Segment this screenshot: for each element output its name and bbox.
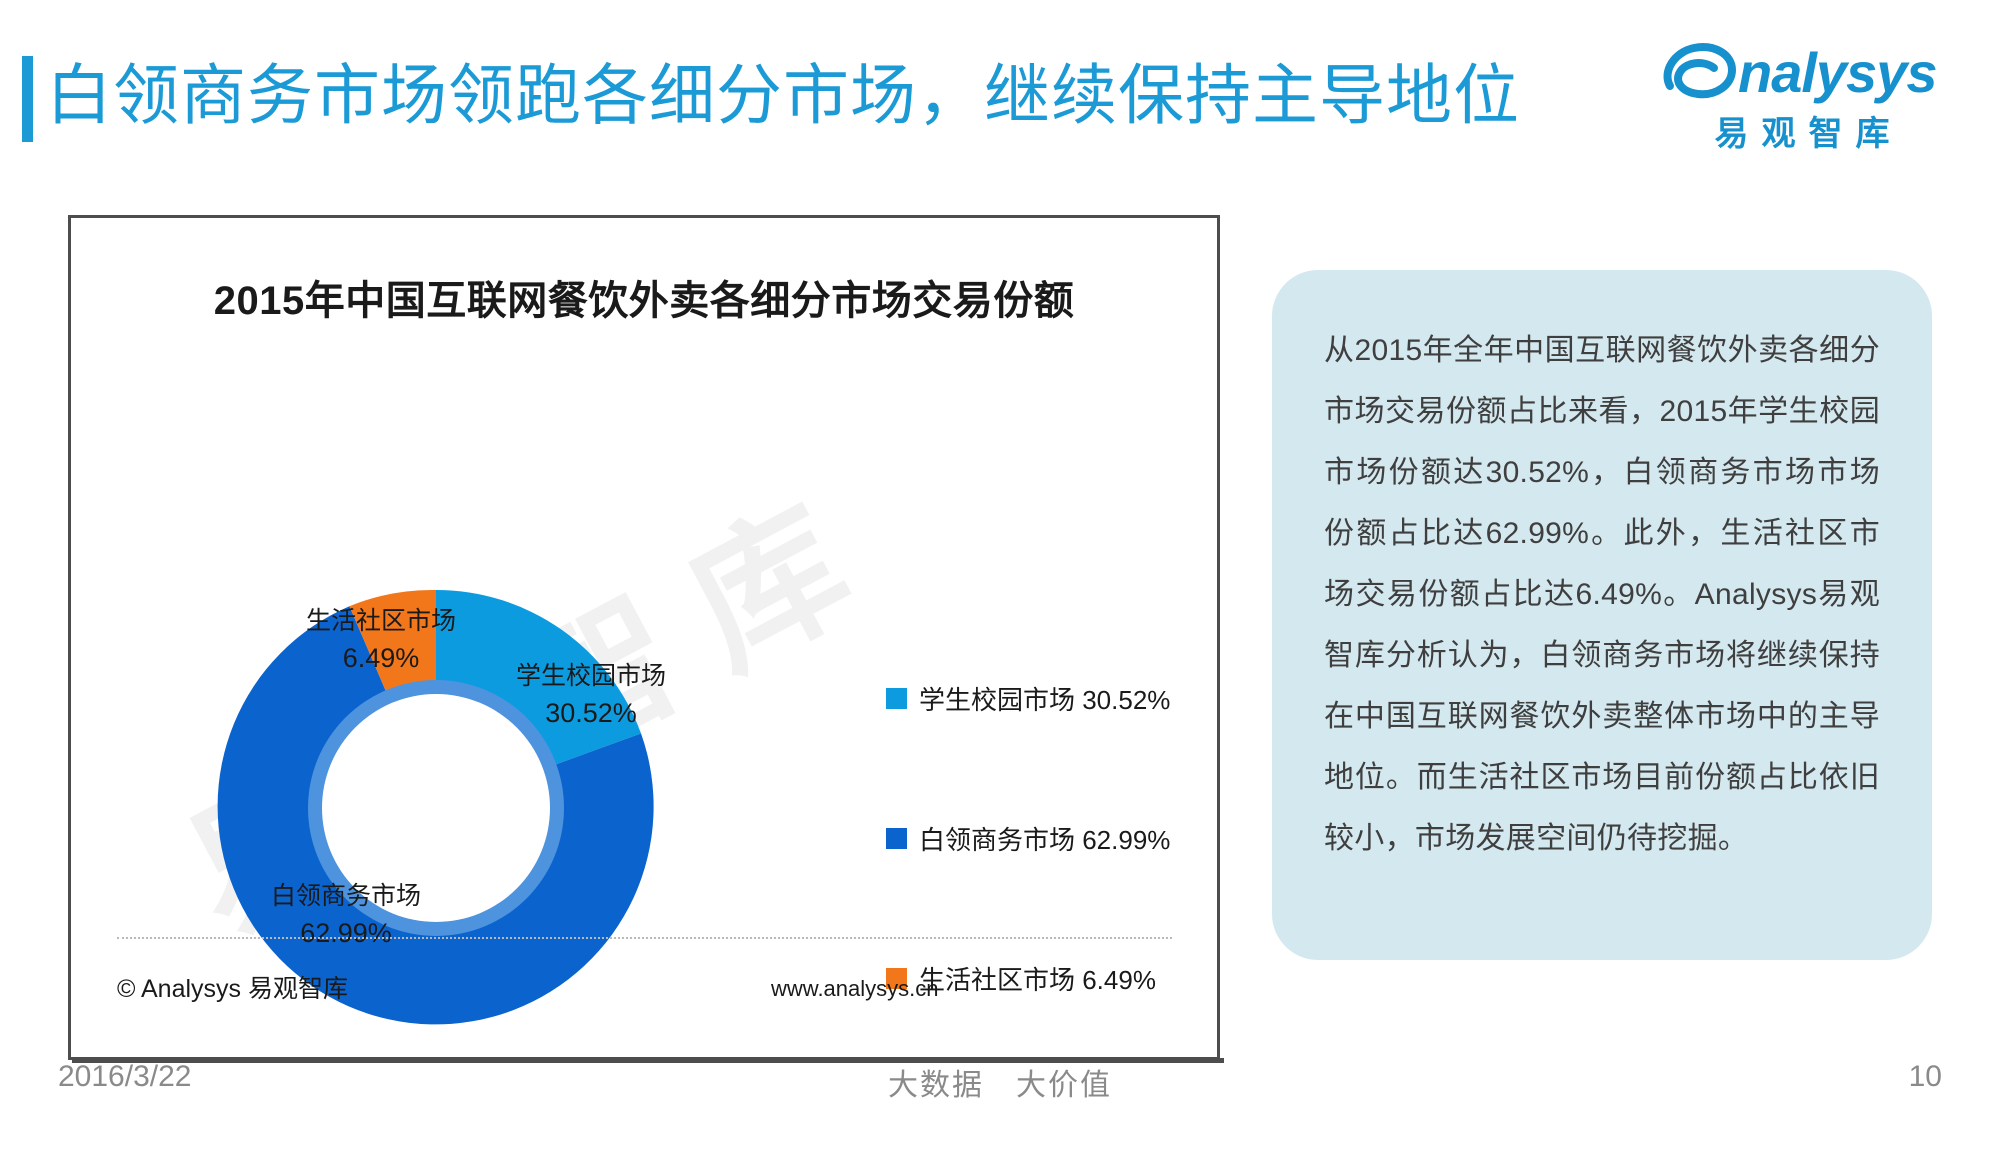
- donut-callout-community: 生活社区市场 6.49%: [266, 603, 496, 677]
- legend-swatch-student-icon: [886, 688, 907, 709]
- legend-swatch-whitecollar-icon: [886, 828, 907, 849]
- svg-text:nalysys: nalysys: [1738, 41, 1937, 104]
- donut-callout-community-percent: 6.49%: [266, 640, 496, 677]
- donut-callout-student-name: 学生校园市场: [516, 662, 666, 690]
- analysys-wordmark-icon: nalysys: [1652, 30, 1952, 108]
- page-footer: 2016/3/22 大数据 大价值 10: [0, 1040, 2000, 1125]
- card-divider: [117, 937, 1172, 939]
- donut-callout-student: 学生校园市场 30.52%: [476, 658, 706, 732]
- legend-item-whitecollar: 白领商务市场 62.99%: [886, 768, 1206, 908]
- donut-callout-whitecollar-name: 白领商务市场: [271, 882, 421, 910]
- footer-slogan: 大数据 大价值: [0, 1060, 2000, 1104]
- donut-callout-whitecollar-percent: 62.99%: [221, 915, 471, 952]
- page-header: 白领商务市场领跑各细分市场，继续保持主导地位 nalysys 易观智库: [0, 0, 2000, 180]
- title-accent-bar: [22, 56, 33, 142]
- legend-label-community: 生活社区市场 6.49%: [919, 960, 1156, 997]
- donut-callout-community-name: 生活社区市场: [306, 607, 456, 635]
- donut-callout-whitecollar: 白领商务市场 62.99%: [221, 878, 471, 952]
- legend-item-student: 学生校园市场 30.52%: [886, 628, 1206, 768]
- legend-label-student: 学生校园市场 30.52%: [919, 680, 1170, 717]
- analysys-logo: nalysys 易观智库: [1652, 30, 1952, 152]
- insight-panel-text: 从2015年全年中国互联网餐饮外卖各细分市场交易份额占比来看，2015年学生校园…: [1324, 320, 1880, 869]
- card-copyright: © Analysys 易观智库: [117, 969, 348, 1005]
- donut-callout-student-percent: 30.52%: [476, 695, 706, 732]
- chart-title: 2015年中国互联网餐饮外卖各细分市场交易份额: [71, 268, 1217, 326]
- legend-label-whitecollar: 白领商务市场 62.99%: [919, 820, 1170, 857]
- page-title: 白领商务市场领跑各细分市场，继续保持主导地位: [46, 47, 1520, 143]
- footer-page-number: 10: [1909, 1060, 1942, 1094]
- chart-card: 2015年中国互联网餐饮外卖各细分市场交易份额 易观智库 生活社区市场 6.49…: [68, 215, 1220, 1060]
- logo-chinese-text: 易观智库: [1652, 106, 1952, 155]
- card-website-url: www.analysys.cn: [771, 976, 939, 1002]
- insight-panel: 从2015年全年中国互联网餐饮外卖各细分市场交易份额占比来看，2015年学生校园…: [1272, 270, 1932, 960]
